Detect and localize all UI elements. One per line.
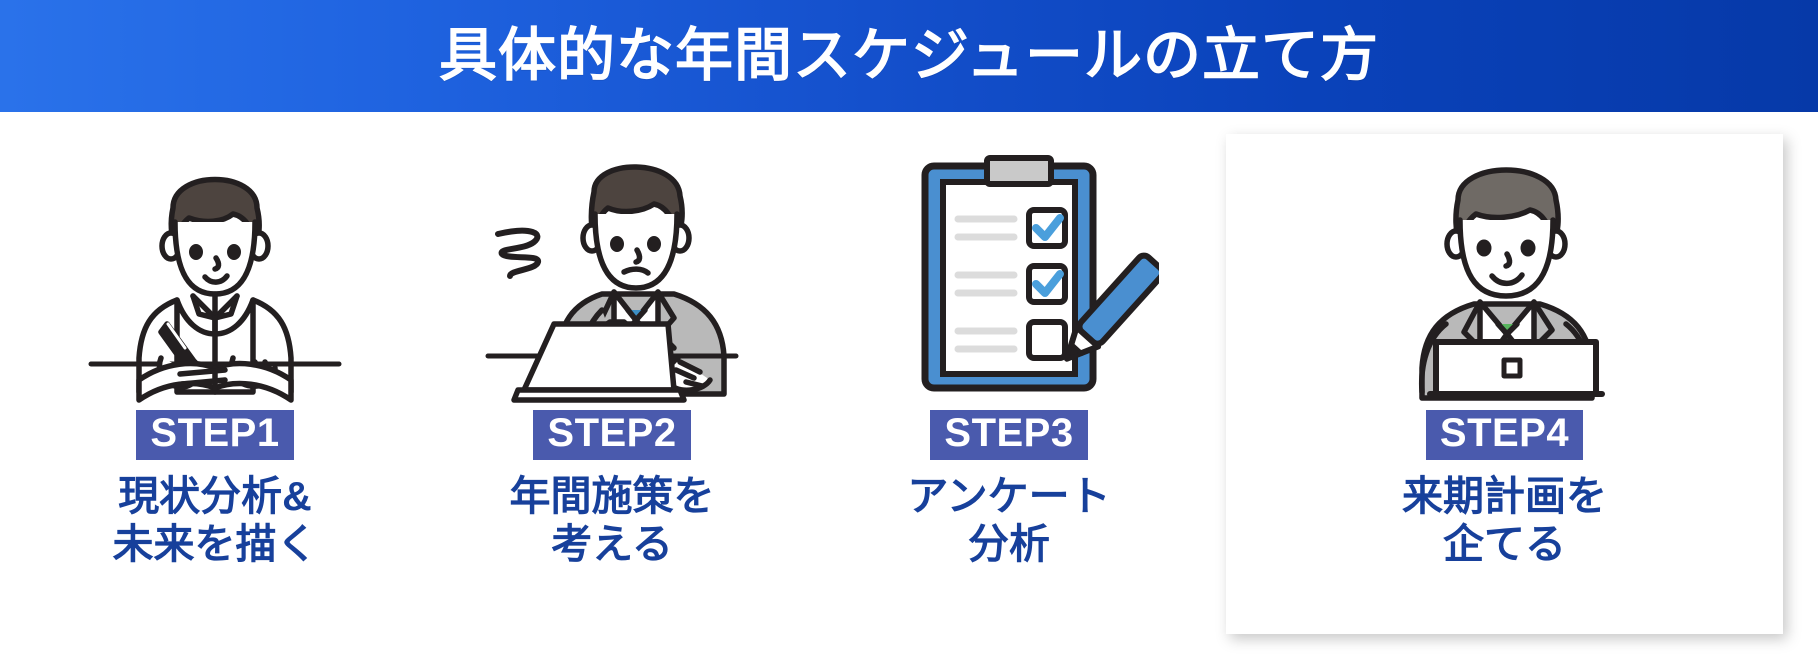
step-label-2: 年間施策を 考える [510, 472, 715, 569]
step-badge-3: STEP3 [930, 410, 1087, 460]
step-badge-1: STEP1 [136, 410, 293, 460]
step-card-1[interactable]: STEP1 現状分析& 未来を描く [35, 134, 465, 634]
step-card-2[interactable]: STEP2 年間施策を 考える [432, 134, 862, 634]
step-card-4[interactable]: STEP4 来期計画を 企てる [1226, 134, 1783, 634]
page-title: 具体的な年間スケジュールの立て方 [439, 27, 1379, 85]
step-badge-4: STEP4 [1426, 410, 1583, 460]
page-header: 具体的な年間スケジュールの立て方 [0, 0, 1818, 112]
step-card-3[interactable]: STEP3 アンケート 分析 [829, 134, 1259, 634]
person-laptop-icon [1226, 134, 1783, 406]
clipboard-checklist-pencil-icon [829, 134, 1189, 406]
step-label-4: 来期計画を 企てる [1402, 472, 1607, 569]
step-label-3: アンケート 分析 [907, 472, 1110, 569]
step-label-1: 現状分析& 未来を描く [113, 472, 318, 569]
steps-stage: を サ 説 [0, 112, 1818, 666]
person-writing-notebook-icon [35, 134, 395, 406]
person-thinking-laptop-icon [432, 134, 792, 406]
step-badge-2: STEP2 [533, 410, 690, 460]
